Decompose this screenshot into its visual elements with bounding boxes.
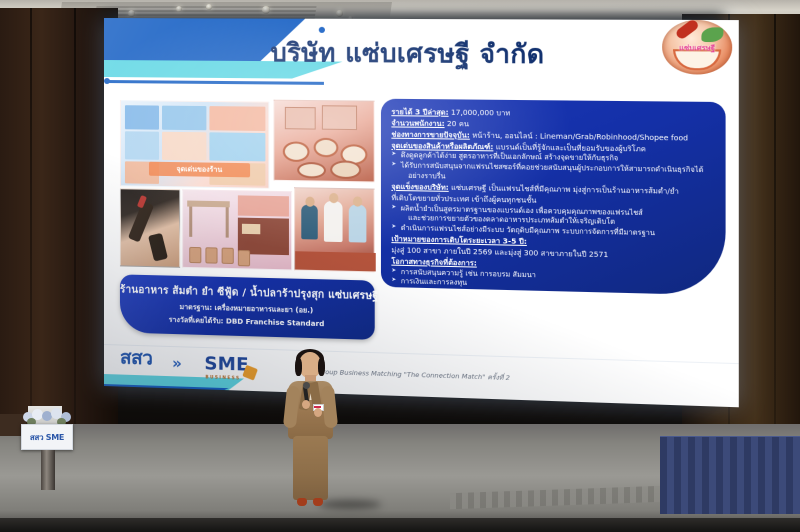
collage-caption: จุดเด่นของร้าน [149, 162, 250, 178]
slide-header: บริษัท แซ่บเศรษฐี จำกัด แซ่บเศรษฐี [104, 18, 739, 98]
channels-label: ช่องทางการขายปัจจุบัน: [391, 129, 469, 139]
microphone-head-icon [303, 382, 310, 389]
presenter-shadow [319, 500, 381, 509]
podium-stem [41, 450, 55, 490]
presenter-shoe-left [297, 498, 307, 506]
header-dot-left [104, 78, 110, 84]
header-accent-line [106, 80, 324, 84]
projection-screen: บริษัท แซ่บเศรษฐี จำกัด แซ่บเศรษฐี [104, 18, 739, 407]
presentation-slide: บริษัท แซ่บเศรษฐี จำกัด แซ่บเศรษฐี [104, 18, 739, 407]
brand-logo-icon: แซ่บเศรษฐี [662, 20, 732, 75]
leaf-icon [701, 27, 723, 42]
brand-badge-text: แซ่บเศรษฐี [662, 43, 732, 55]
ceiling-light-icon [176, 6, 182, 12]
business-info-panel: รายได้ 3 ปีล่าสุด: 17,000,000 บาท จำนวนพ… [381, 99, 726, 296]
podium-sign: สสว SME [21, 424, 73, 450]
photo-collage: จุดเด่นของร้าน [120, 98, 375, 272]
collage-photo-restaurant-interior [182, 189, 292, 270]
revenue-value: 17,000,000 บาท [451, 108, 510, 118]
chevron-icon: » [172, 354, 179, 372]
collage-photo-marketing-flyers: จุดเด่นของร้าน [120, 100, 270, 189]
strength-label: จุดเด่นของสินค้าหรือผลิตภัณฑ์: [391, 140, 493, 151]
presenter-hand-left [302, 400, 310, 409]
slide-title: บริษัท แซ่บเศรษฐี จำกัด [271, 33, 639, 76]
presenter [275, 352, 347, 514]
channels-value: หน้าร้าน, ออนไลน์ : Lineman/Grab/Robinho… [472, 130, 688, 142]
ceiling-light-icon [206, 4, 212, 10]
presenter-hand-right [314, 408, 322, 417]
presenter-shoe-right [313, 498, 323, 506]
collage-photo-fish-sauce-bottle [120, 188, 180, 268]
sme-logo: SME [204, 353, 248, 376]
collage-photo-food-table [274, 100, 375, 183]
employees-value: 20 คน [447, 119, 469, 129]
stage-front-edge [0, 518, 800, 532]
employees-label: จำนวนพนักงาน: [391, 118, 444, 128]
sme-logo-mark-icon [242, 365, 258, 381]
collage-photo-people-group [294, 187, 375, 272]
revenue-label: รายได้ 3 ปีล่าสุด: [391, 107, 448, 117]
conference-stage-scene: บริษัท แซ่บเศรษฐี จำกัด แซ่บเศรษฐี [0, 0, 800, 532]
event-title: SME Group Business Matching "The Connect… [301, 366, 730, 390]
podium: สสว SME [13, 400, 83, 490]
business-label: จุดแข็งของบริษัท: [391, 182, 448, 192]
presenter-hair-right [318, 358, 325, 376]
chili-icon [674, 20, 700, 41]
sasawa-logo: สสว [120, 342, 152, 373]
presenter-skirt [293, 436, 328, 500]
strength-value: แบรนด์เป็นที่รู้จักและเป็นที่ยอมรับของผู… [496, 142, 646, 153]
ceiling-light-icon [262, 6, 270, 14]
podium-sign-text: สสว SME [22, 425, 72, 449]
restaurant-name-panel: ร้านอาหาร ส้มตำ ยำ ซีฟู้ด / น้ำปลาร้าปรุ… [120, 274, 375, 339]
blue-curtain [660, 436, 800, 514]
presenter-hair-left [295, 358, 302, 376]
